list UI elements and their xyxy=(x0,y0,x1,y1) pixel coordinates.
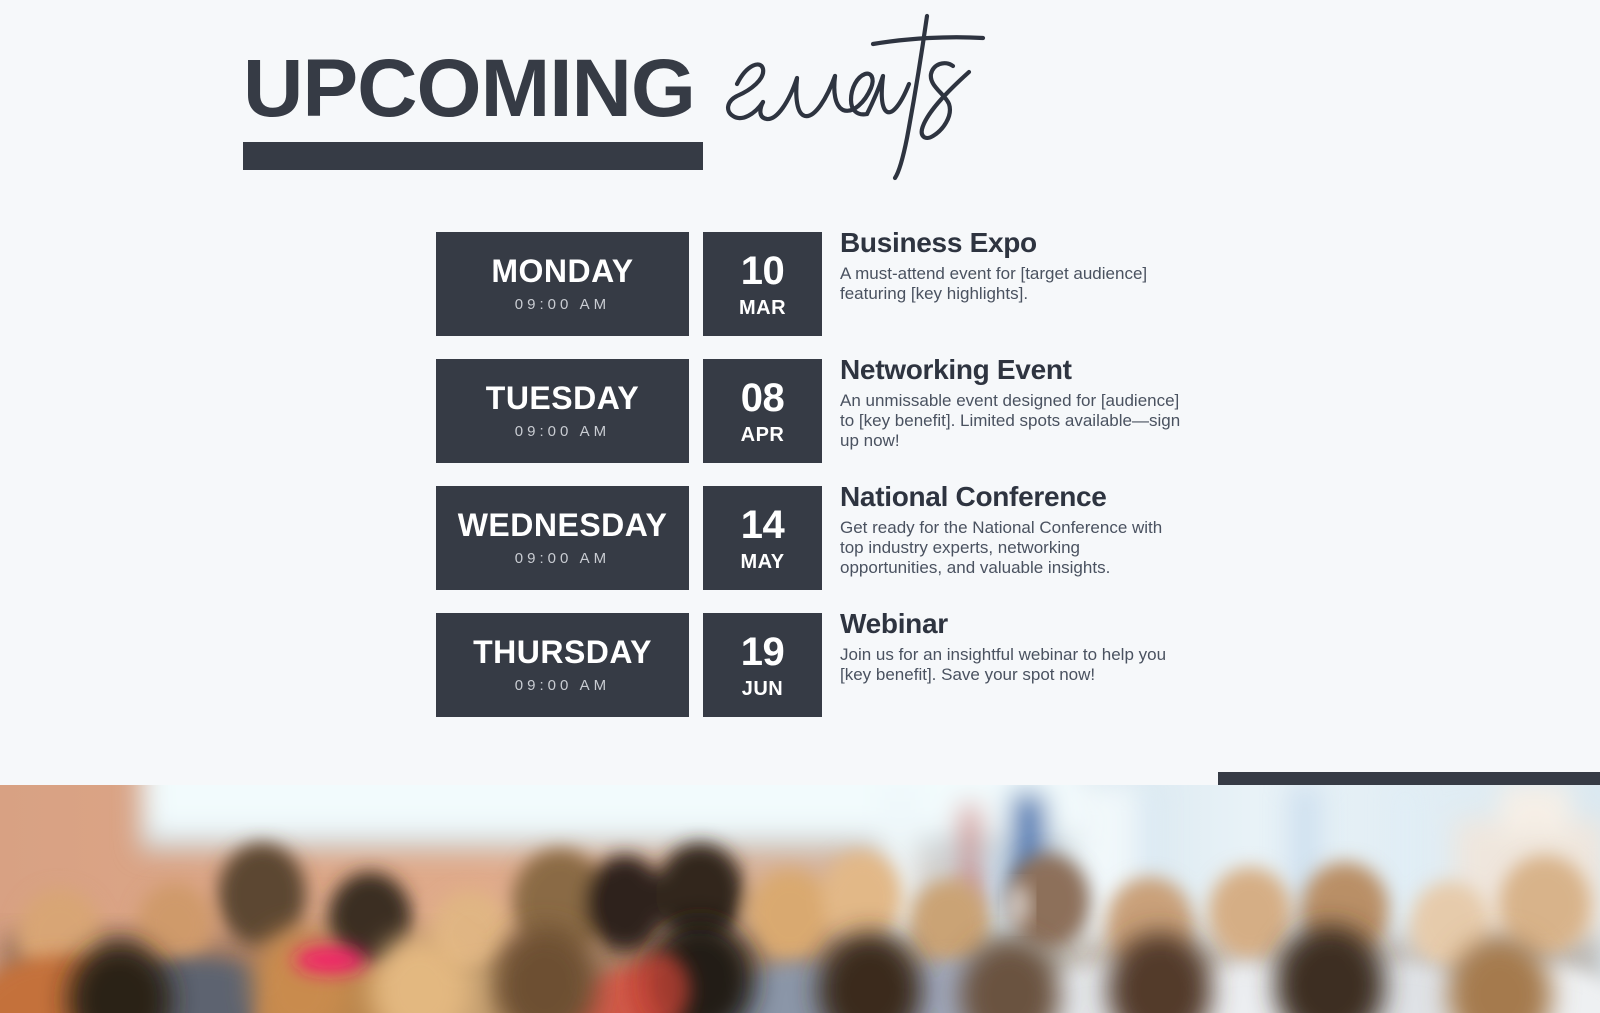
event-info: Networking Event An unmissable event des… xyxy=(840,353,1185,451)
event-date-card: 10 MAR xyxy=(703,232,822,336)
event-time: 09:00 AM xyxy=(515,296,610,313)
event-date-month: MAR xyxy=(739,298,786,318)
event-title: Webinar xyxy=(840,607,1185,640)
event-day-card: WEDNESDAY 09:00 AM xyxy=(436,486,689,590)
event-date-month: APR xyxy=(741,425,785,445)
event-date-day: 19 xyxy=(741,632,785,672)
event-info: Business Expo A must-attend event for [t… xyxy=(840,226,1185,304)
event-title: National Conference xyxy=(840,480,1185,513)
event-description: Join us for an insightful webinar to hel… xyxy=(840,645,1185,685)
event-date-card: 19 JUN xyxy=(703,613,822,717)
event-time: 09:00 AM xyxy=(515,677,610,694)
event-date-day: 08 xyxy=(741,378,785,418)
event-info: Webinar Join us for an insightful webina… xyxy=(840,607,1185,685)
event-title: Networking Event xyxy=(840,353,1185,386)
event-date-day: 10 xyxy=(741,251,785,291)
event-day-card: TUESDAY 09:00 AM xyxy=(436,359,689,463)
title-underline-bar xyxy=(243,142,703,170)
events-list: MONDAY 09:00 AM 10 MAR Business Expo A m… xyxy=(436,232,1176,717)
event-date-card: 08 APR xyxy=(703,359,822,463)
event-date-month: JUN xyxy=(742,679,784,699)
audience-photo xyxy=(0,785,1600,1013)
event-title: Business Expo xyxy=(840,226,1185,259)
event-time: 09:00 AM xyxy=(515,423,610,440)
event-description: Get ready for the National Conference wi… xyxy=(840,518,1185,578)
event-day-card: MONDAY 09:00 AM xyxy=(436,232,689,336)
event-day-card: THURSDAY 09:00 AM xyxy=(436,613,689,717)
accent-bar xyxy=(1218,772,1600,786)
poster-header: UPCOMING xyxy=(243,22,1263,182)
event-description: An unmissable event designed for [audien… xyxy=(840,391,1185,451)
event-row[interactable]: TUESDAY 09:00 AM 08 APR Networking Event… xyxy=(436,359,1176,463)
event-description: A must-attend event for [target audience… xyxy=(840,264,1185,304)
event-row[interactable]: WEDNESDAY 09:00 AM 14 MAY National Confe… xyxy=(436,486,1176,590)
event-day-name: THURSDAY xyxy=(473,636,652,670)
event-row[interactable]: MONDAY 09:00 AM 10 MAR Business Expo A m… xyxy=(436,232,1176,336)
event-day-name: MONDAY xyxy=(491,255,633,289)
event-row[interactable]: THURSDAY 09:00 AM 19 JUN Webinar Join us… xyxy=(436,613,1176,717)
event-info: National Conference Get ready for the Na… xyxy=(840,480,1185,578)
event-day-name: WEDNESDAY xyxy=(458,509,668,543)
poster-canvas: UPCOMING MONDA xyxy=(0,0,1600,1013)
page-title: UPCOMING xyxy=(243,48,695,130)
event-date-day: 14 xyxy=(741,505,785,545)
event-date-card: 14 MAY xyxy=(703,486,822,590)
event-day-name: TUESDAY xyxy=(486,382,639,416)
event-date-month: MAY xyxy=(740,552,784,572)
event-time: 09:00 AM xyxy=(515,550,610,567)
title-script-events xyxy=(701,6,1021,196)
